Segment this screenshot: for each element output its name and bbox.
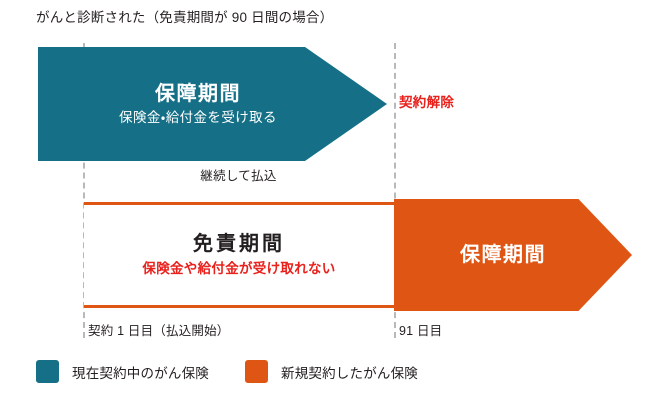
diagram-canvas: がんと診断された（免責期間が 90 日間の場合） 保障期間 保険金・給付金を受け… — [0, 0, 670, 400]
current-policy-coverage-arrow — [38, 47, 387, 161]
waiting-period-subtitle: 保険金や給付金が受け取れない — [142, 262, 335, 276]
new-policy-coverage-arrow — [394, 199, 632, 311]
legend-item-new-policy: 新規契約したがん保険 — [245, 360, 418, 383]
legend-swatch-orange-icon — [245, 360, 268, 383]
timeline-start-label: 契約 1 日目（払込開始） — [88, 320, 230, 339]
contract-cancellation-note: 契約解除 — [399, 91, 454, 111]
legend-label-new-policy: 新規契約したがん保険 — [281, 362, 418, 382]
page-title: がんと診断された（免責期間が 90 日間の場合） — [36, 9, 333, 27]
waiting-period-heading: 免責期間 — [193, 234, 285, 254]
timeline-end-label: 91 日目 — [399, 320, 442, 339]
continued-payment-note: 継続して払込 — [83, 165, 394, 184]
legend-swatch-teal-icon — [36, 360, 59, 383]
legend-item-current-policy: 現在契約中のがん保険 — [36, 360, 209, 383]
legend: 現在契約中のがん保険 新規契約したがん保険 — [36, 360, 418, 383]
waiting-period-box: 免責期間 保険金や給付金が受け取れない — [84, 202, 394, 308]
legend-label-current-policy: 現在契約中のがん保険 — [72, 362, 209, 382]
